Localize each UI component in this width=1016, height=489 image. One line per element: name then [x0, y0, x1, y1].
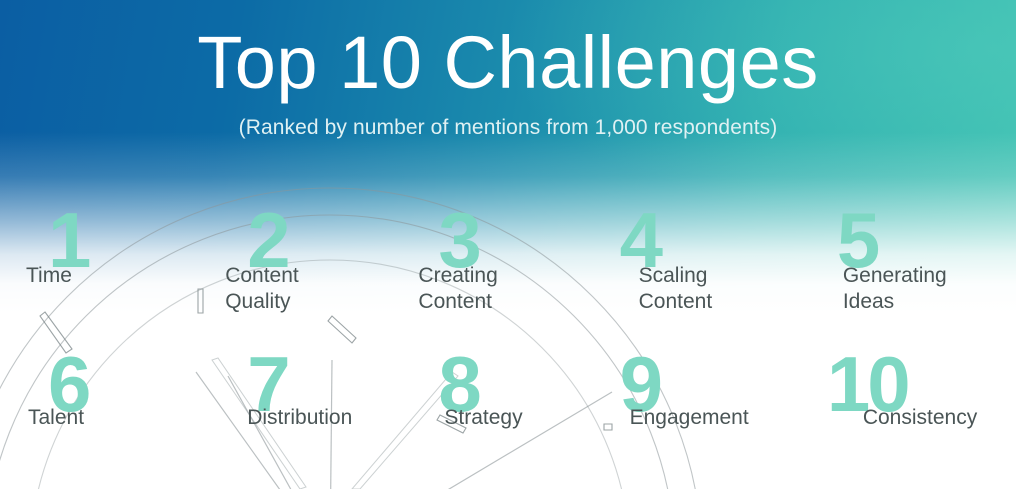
page-title: Top 10 Challenges: [0, 0, 1016, 100]
infographic-canvas: Top 10 Challenges (Ranked by number of m…: [0, 0, 1016, 489]
challenge-label-4: Scaling Content: [639, 263, 713, 314]
challenge-item-10[interactable]: 10 Consistency: [813, 345, 1016, 455]
challenge-item-8[interactable]: 8 Strategy: [406, 345, 609, 455]
challenge-item-5[interactable]: 5 Generating Ideas: [813, 205, 1016, 345]
challenge-item-6[interactable]: 6 Talent: [0, 345, 203, 455]
challenge-label-6: Talent: [28, 405, 84, 431]
header: Top 10 Challenges (Ranked by number of m…: [0, 0, 1016, 140]
challenge-label-9: Engagement: [630, 405, 749, 431]
page-subtitle: (Ranked by number of mentions from 1,000…: [0, 100, 1016, 140]
challenge-label-5: Generating Ideas: [843, 263, 947, 314]
challenge-row-top: 1 Time 2 Content Quality 3 Creating Cont…: [0, 205, 1016, 345]
challenge-item-7[interactable]: 7 Distribution: [203, 345, 406, 455]
challenge-item-9[interactable]: 9 Engagement: [610, 345, 813, 455]
challenge-label-8: Strategy: [444, 405, 522, 431]
challenge-label-1: Time: [26, 263, 72, 289]
challenge-item-1[interactable]: 1 Time: [0, 205, 203, 345]
challenge-item-2[interactable]: 2 Content Quality: [203, 205, 406, 345]
challenge-label-2: Content Quality: [225, 263, 299, 314]
challenge-label-10: Consistency: [863, 405, 977, 431]
challenge-item-4[interactable]: 4 Scaling Content: [610, 205, 813, 345]
challenge-label-3: Creating Content: [418, 263, 497, 314]
challenge-row-bottom: 6 Talent 7 Distribution 8 Strategy 9 Eng…: [0, 345, 1016, 455]
challenge-label-7: Distribution: [247, 405, 352, 431]
challenge-item-3[interactable]: 3 Creating Content: [406, 205, 609, 345]
challenge-grid: 1 Time 2 Content Quality 3 Creating Cont…: [0, 205, 1016, 455]
